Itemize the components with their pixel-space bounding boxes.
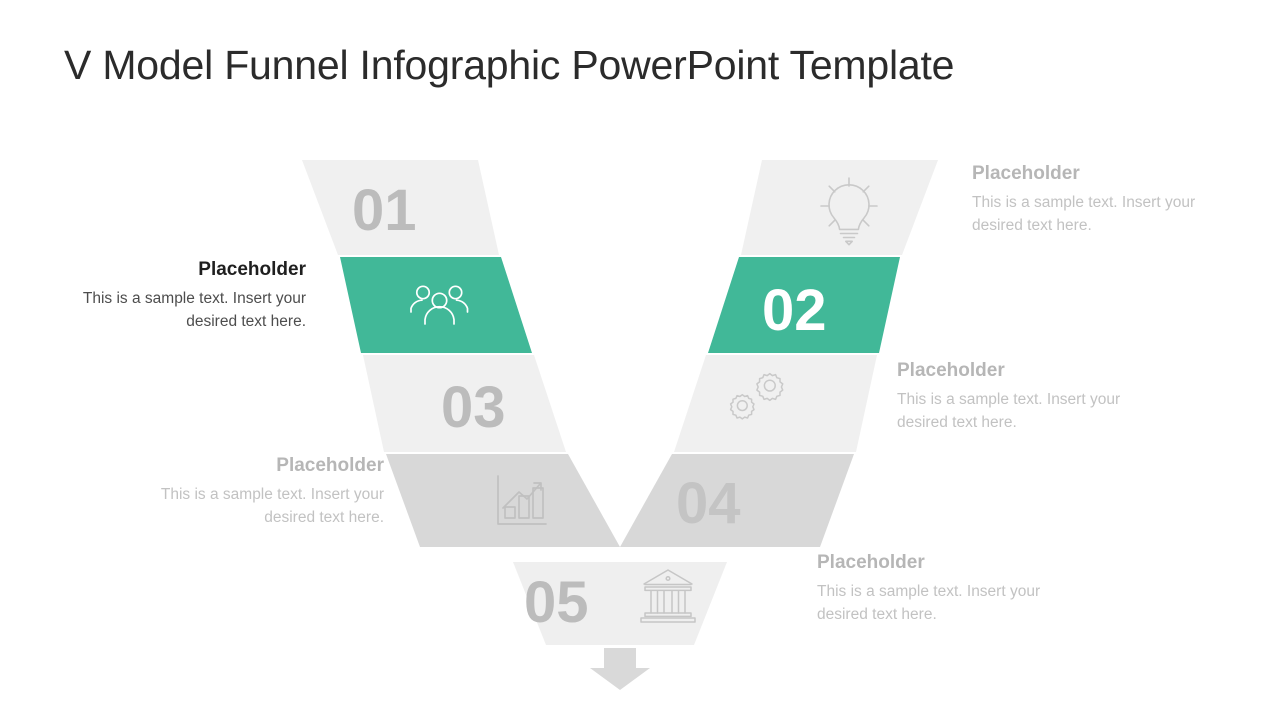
funnel-step-1-number: 01	[352, 178, 417, 243]
funnel-step-1[interactable]: 01	[302, 160, 938, 255]
text-block-step-2-body: This is a sample text. Insert your desir…	[70, 288, 306, 334]
gears-icon	[731, 374, 783, 419]
text-block-step-1-body: This is a sample text. Insert your desir…	[972, 192, 1208, 238]
text-block-step-3-body: This is a sample text. Insert your desir…	[897, 389, 1133, 435]
text-block-step-1: Placeholder This is a sample text. Inser…	[972, 164, 1208, 238]
funnel-step-2[interactable]: 02	[340, 257, 900, 353]
funnel-step-1-right-leg[interactable]	[741, 160, 938, 255]
text-block-step-4-body: This is a sample text. Insert your desir…	[148, 484, 384, 530]
text-block-step-5: Placeholder This is a sample text. Inser…	[817, 553, 1053, 627]
text-block-step-3-heading: Placeholder	[897, 361, 1133, 382]
funnel-step-5-body[interactable]	[513, 562, 727, 645]
text-block-step-1-heading: Placeholder	[972, 164, 1208, 185]
people-group-icon	[411, 286, 468, 324]
funnel-step-3-left-leg[interactable]	[363, 355, 566, 452]
funnel-step-4[interactable]: 04	[386, 454, 854, 547]
lightbulb-icon	[821, 178, 877, 245]
funnel-diagram: 01 0	[0, 0, 1280, 720]
funnel-step-3[interactable]: 03	[363, 355, 877, 452]
slide-canvas: V Model Funnel Infographic PowerPoint Te…	[0, 0, 1280, 720]
text-block-step-5-heading: Placeholder	[817, 553, 1053, 574]
funnel-step-1-left-leg[interactable]	[302, 160, 499, 255]
funnel-step-5[interactable]: 05	[513, 562, 727, 645]
funnel-step-2-left-leg[interactable]	[340, 257, 532, 353]
funnel-step-2-right-leg[interactable]	[708, 257, 900, 353]
text-block-step-3: Placeholder This is a sample text. Inser…	[897, 361, 1133, 435]
page-title: V Model Funnel Infographic PowerPoint Te…	[64, 42, 954, 89]
funnel-step-5-number: 05	[524, 570, 589, 635]
text-block-step-4-heading: Placeholder	[148, 456, 384, 477]
text-block-step-2: Placeholder This is a sample text. Inser…	[70, 260, 306, 334]
bar-chart-growth-icon	[498, 476, 546, 524]
funnel-step-3-right-leg[interactable]	[674, 355, 877, 452]
funnel-step-4-right-leg[interactable]	[620, 454, 854, 547]
funnel-step-4-left-leg[interactable]	[386, 454, 620, 547]
text-block-step-4: Placeholder This is a sample text. Inser…	[148, 456, 384, 530]
text-block-step-2-heading: Placeholder	[70, 260, 306, 281]
funnel-step-3-number: 03	[441, 375, 506, 440]
text-block-step-5-body: This is a sample text. Insert your desir…	[817, 581, 1053, 627]
funnel-step-2-number: 02	[762, 278, 827, 343]
bank-building-icon	[641, 570, 695, 622]
funnel-step-4-number: 04	[676, 471, 741, 536]
down-arrow-icon	[590, 648, 650, 690]
